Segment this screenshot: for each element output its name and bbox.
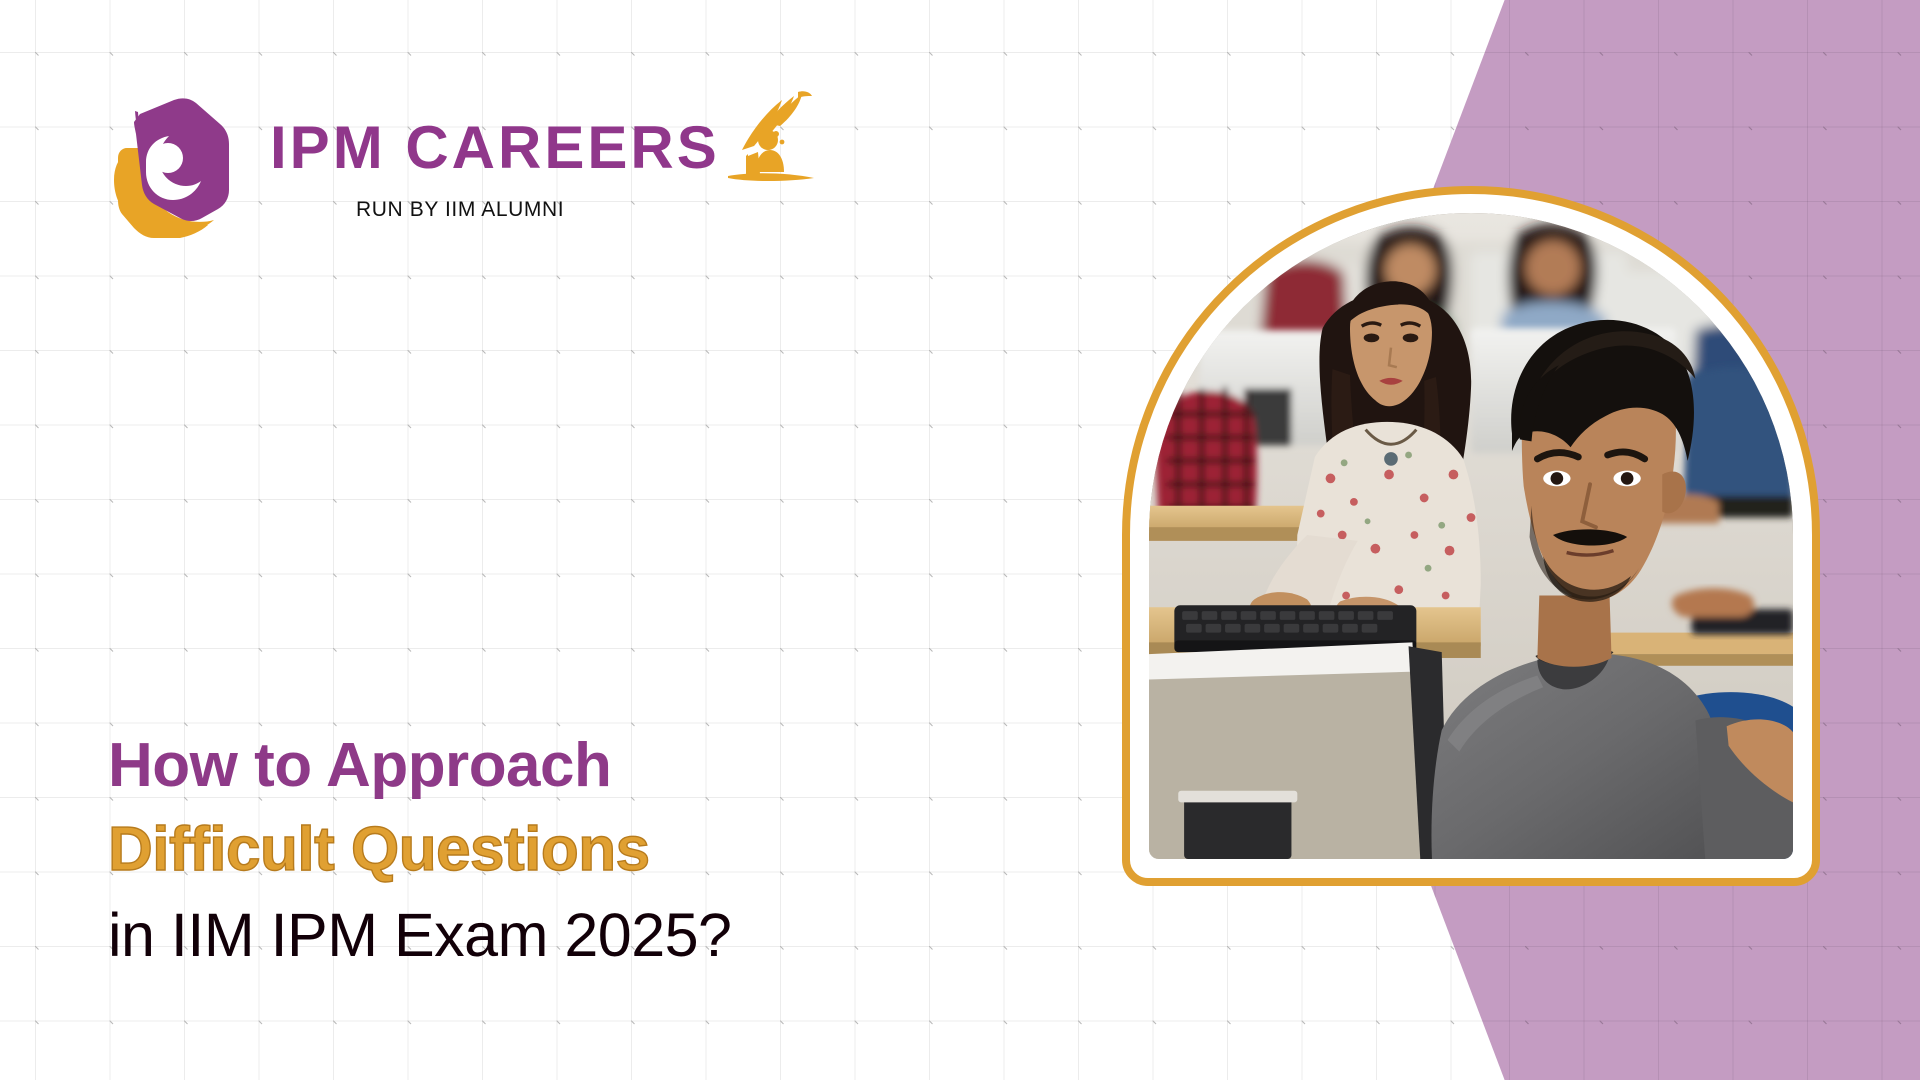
logo-wordmark: IPM CAREERS — [270, 118, 720, 178]
hero-photo — [1149, 213, 1793, 859]
headline-line-1: How to Approach — [108, 735, 731, 797]
ipm-careers-hexagon-mark — [96, 92, 248, 244]
headline-line-2: Difficult Questions — [108, 819, 731, 881]
brand-logo[interactable]: IPM CAREERS — [96, 92, 816, 244]
logo-tagline: RUN BY IIM ALUMNI — [356, 198, 816, 222]
hero-photo-frame — [1122, 186, 1820, 886]
headline-line-3: in IIM IPM Exam 2025? — [108, 905, 731, 966]
banner-canvas: IPM CAREERS — [0, 0, 1920, 1080]
student-reading-silhouette-icon — [724, 90, 816, 186]
headline-block: How to Approach Difficult Questions in I… — [108, 735, 731, 966]
